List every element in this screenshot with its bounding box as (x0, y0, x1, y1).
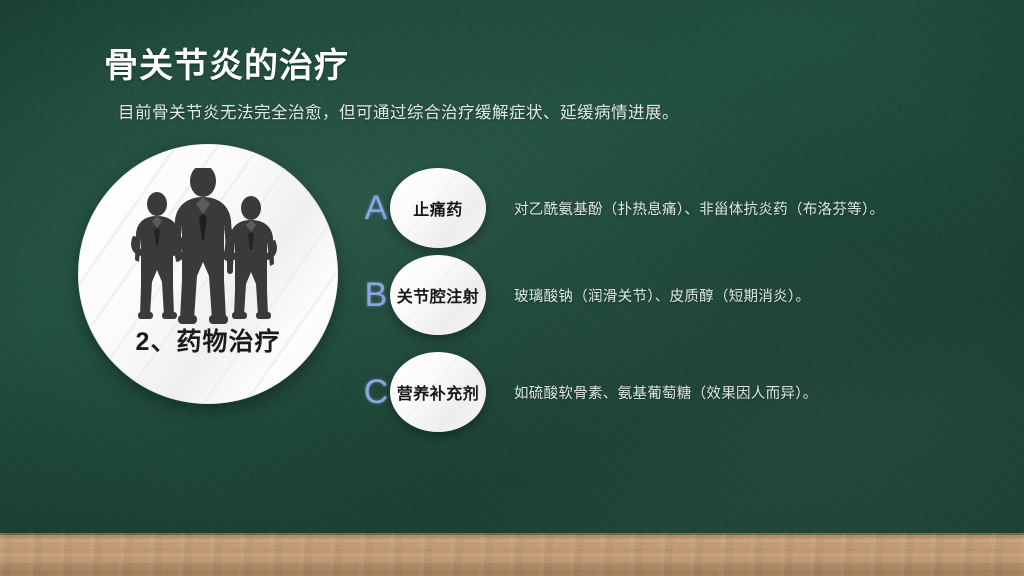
row-description-c: 如硫酸软骨素、氨基葡萄糖（效果因人而异）。 (514, 382, 818, 403)
page-title: 骨关节炎的治疗 (104, 38, 349, 87)
treatment-row-c: C 营养补充剂 如硫酸软骨素、氨基葡萄糖（效果因人而异）。 (356, 352, 818, 432)
ledge-top-edge (0, 533, 1024, 535)
row-pill-label-c: 营养补充剂 (397, 380, 480, 404)
row-pill-a[interactable]: 止痛药 (390, 168, 486, 248)
page-subtitle: 目前骨关节炎无法完全治愈，但可通过综合治疗缓解症状、延缓病情进展。 (118, 99, 679, 123)
row-pill-b[interactable]: 关节腔注射 (390, 255, 486, 335)
wood-grain-texture (0, 533, 1024, 576)
row-pill-label-a: 止痛药 (413, 196, 463, 220)
row-pill-label-b: 关节腔注射 (397, 283, 480, 307)
treatment-row-a: A 止痛药 对乙酰氨基酚（扑热息痛）、非甾体抗炎药（布洛芬等）。 (356, 168, 884, 248)
chalk-ledge (0, 533, 1024, 576)
section-badge: 2、药物治疗 (78, 144, 338, 404)
row-description-a: 对乙酰氨基酚（扑热息痛）、非甾体抗炎药（布洛芬等）。 (514, 198, 884, 219)
row-pill-c[interactable]: 营养补充剂 (390, 352, 486, 432)
three-businessmen-silhouette-icon (113, 168, 303, 333)
row-description-b: 玻璃酸钠（润滑关节）、皮质醇（短期消炎）。 (514, 285, 810, 306)
treatment-row-b: B 关节腔注射 玻璃酸钠（润滑关节）、皮质醇（短期消炎）。 (356, 255, 810, 335)
badge-label: 2、药物治疗 (78, 322, 338, 358)
slide-canvas: 骨关节炎的治疗 目前骨关节炎无法完全治愈，但可通过综合治疗缓解症状、延缓病情进展… (0, 0, 1024, 576)
